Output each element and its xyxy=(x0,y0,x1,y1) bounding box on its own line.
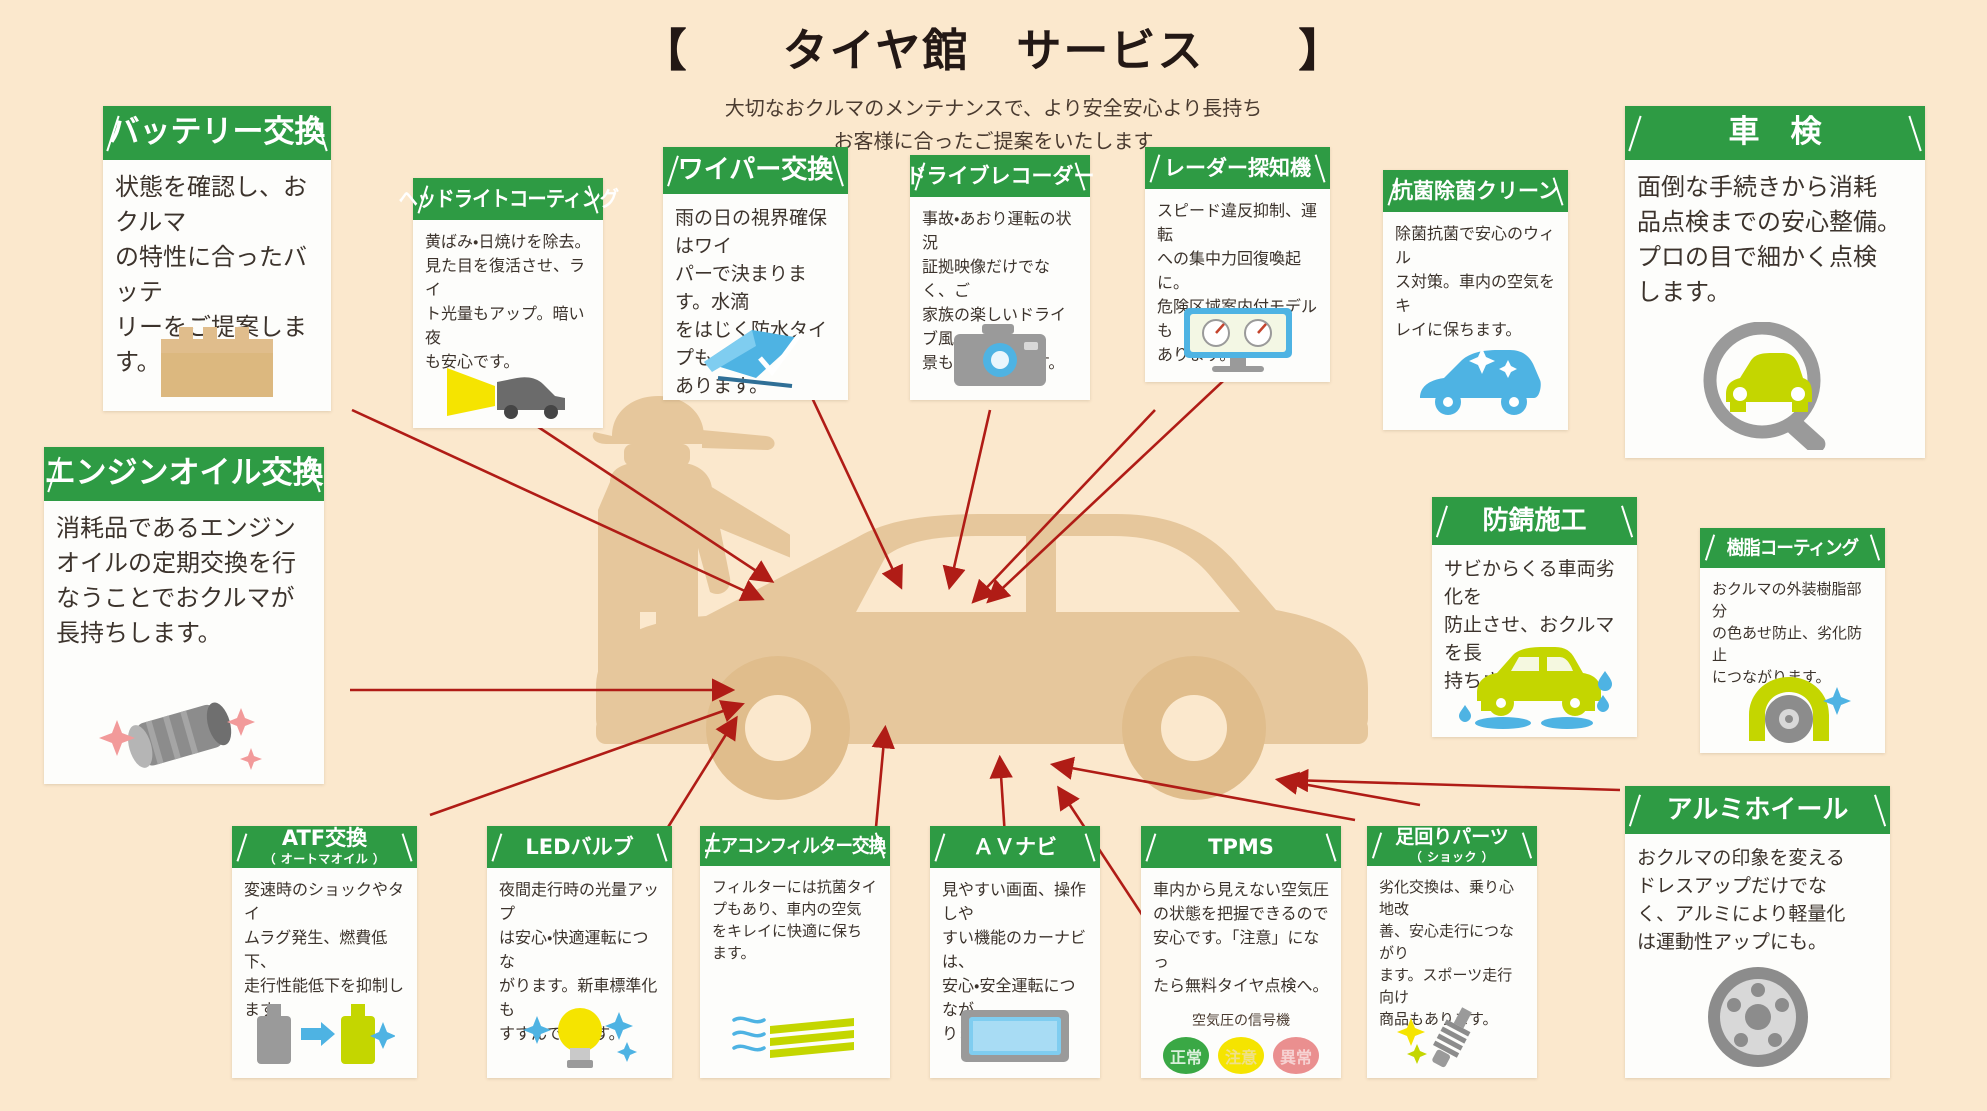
card-wiper[interactable]: ワイパー交換 雨の日の視界確保はワイ パーで決まります。水滴 をはじく防水タイプ… xyxy=(663,147,848,400)
card-atf-subtitle: （ オートマオイル ） xyxy=(264,850,386,867)
card-antibacterial-body: 除菌抗菌で安心のウィル ス対策。車内の空気をキ レイに保ちます。 xyxy=(1383,212,1568,342)
card-shaken-header: 車 検 xyxy=(1625,106,1925,160)
card-shaken-body: 面倒な手続きから消耗 品点検までの安心整備。 プロの目で細かく点検 します。 xyxy=(1625,160,1925,310)
card-suspension-title: 足回りパーツ xyxy=(1395,827,1509,848)
card-engineoil-title: エンジンオイル交換 xyxy=(45,457,324,490)
card-ledbulb[interactable]: LEDバルブ 夜間走行時の光量アップ は安心・快適運転につな がります。新車標準… xyxy=(487,826,672,1078)
shock-absorber-icon xyxy=(1367,1030,1537,1078)
card-airconfilter-header: エアコンフィルター交換 xyxy=(700,826,890,866)
card-antibacterial-title: 抗菌除菌クリーン xyxy=(1392,180,1559,203)
battery-icon xyxy=(103,380,331,411)
led-bulb-icon xyxy=(487,1046,672,1078)
car-water-icon xyxy=(1432,695,1637,737)
card-tpms-header: TPMS xyxy=(1141,826,1341,868)
card-suspension[interactable]: 足回りパーツ （ ショック ） 劣化交換は、乗り心地改 善、安心走行につながり … xyxy=(1367,826,1537,1078)
navi-screen-icon xyxy=(930,1046,1100,1078)
wheel-arch-icon xyxy=(1700,688,1885,753)
card-driverecorder-header: ドライブレコーダー xyxy=(910,155,1090,197)
tpms-signal-legend: 空気圧の信号機 正常 注意 異常 xyxy=(1141,1010,1341,1074)
card-avnavi[interactable]: ＡＶナビ 見やすい画面、操作しや すい機能のカーナビは、 安心・安全運転につなが… xyxy=(930,826,1100,1078)
card-tpms-title: TPMS xyxy=(1208,836,1274,859)
card-avnavi-header: ＡＶナビ xyxy=(930,826,1100,868)
card-atf[interactable]: ATF交換 （ オートマオイル ） 変速時のショックやタイ ムラグ発生、燃費低下… xyxy=(232,826,417,1078)
dashcam-camera-icon xyxy=(910,375,1090,400)
filter-airflow-icon xyxy=(700,964,890,1078)
card-ledbulb-title: LEDバルブ xyxy=(525,836,633,859)
card-headlight[interactable]: ヘッドライトコーティング 黄ばみ・日焼けを除去。 見た目を復活させ、ライ ト光量… xyxy=(413,178,603,428)
sparkling-car-icon xyxy=(1383,342,1568,430)
card-wheels-header: アルミホイール xyxy=(1625,786,1890,834)
card-radar-header: レーダー探知機 xyxy=(1145,147,1330,189)
card-resincoat-body: おクルマの外装樹脂部分 の色あせ防止、劣化防止 につながります。 xyxy=(1700,568,1885,688)
card-suspension-header: 足回りパーツ （ ショック ） xyxy=(1367,826,1537,866)
tpms-signal-normal: 正常 xyxy=(1163,1037,1209,1074)
card-engineoil[interactable]: エンジンオイル交換 消耗品であるエンジン オイルの定期交換を行 なうことでおクル… xyxy=(44,447,324,784)
card-antibacterial[interactable]: 抗菌除菌クリーン 除菌抗菌で安心のウィル ス対策。車内の空気をキ レイに保ちます… xyxy=(1383,170,1568,430)
infographic-canvas: 【 タイヤ館 サービス 】 大切なおクルマのメンテナンスで、より安全安心より長持… xyxy=(0,0,1987,1111)
card-resincoat-title: 樹脂コーティング xyxy=(1727,538,1858,559)
card-atf-body: 変速時のショックやタイ ムラグ発生、燃費低下、 走行性能低下を抑制し ます。 xyxy=(232,868,417,1022)
card-airconfilter-body: フィルターには抗菌タイ プもあり、車内の空気 をキレイに快適に保ち ます。 xyxy=(700,866,890,964)
card-radar[interactable]: レーダー探知機 スピード違反抑制、運転 への集中力回復喚起に。 危険区域案内付モ… xyxy=(1145,147,1330,382)
magnifier-car-icon xyxy=(1625,310,1925,458)
card-rustproof-header: 防錆施工 xyxy=(1432,497,1637,545)
card-atf-title: ATF交換 xyxy=(282,827,367,850)
radar-monitor-icon xyxy=(1145,367,1330,382)
card-battery-title: バッテリー交換 xyxy=(109,116,326,149)
tpms-signal-caution: 注意 xyxy=(1218,1037,1264,1074)
card-wheels-title: アルミホイール xyxy=(1667,796,1849,824)
tpms-signal-abnormal: 異常 xyxy=(1273,1037,1319,1074)
card-avnavi-title: ＡＶナビ xyxy=(973,836,1057,859)
card-tpms[interactable]: TPMS 車内から見えない空気圧 の状態を把握できるので 安心です。「注意」にな… xyxy=(1141,826,1341,1078)
card-airconfilter-title: エアコンフィルター交換 xyxy=(704,836,885,857)
card-battery-header: バッテリー交換 xyxy=(103,106,331,160)
card-engineoil-header: エンジンオイル交換 xyxy=(44,447,324,501)
card-rustproof[interactable]: 防錆施工 サビからくる車両劣化を 防止させ、おクルマを長 持ちさせます。 xyxy=(1432,497,1637,737)
card-wiper-header: ワイパー交換 xyxy=(663,147,848,194)
card-radar-title: レーダー探知機 xyxy=(1164,157,1311,180)
card-resincoat[interactable]: 樹脂コーティング おクルマの外装樹脂部分 の色あせ防止、劣化防止 につながります… xyxy=(1700,528,1885,753)
tpms-signal-dots: 正常 注意 異常 xyxy=(1141,1037,1341,1074)
card-headlight-header: ヘッドライトコーティング xyxy=(413,178,603,220)
oil-filter-icon xyxy=(44,651,324,784)
card-headlight-body: 黄ばみ・日焼けを除去。 見た目を復活させ、ライ ト光量もアップ。暗い夜 も安心で… xyxy=(413,220,603,374)
card-engineoil-body: 消耗品であるエンジン オイルの定期交換を行 なうことでおクルマが 長持ちします。 xyxy=(44,501,324,651)
card-driverecorder[interactable]: ドライブレコーダー 事故・あおり運転の状況 証拠映像だけでなく、ご 家族の楽しい… xyxy=(910,155,1090,400)
card-wiper-title: ワイパー交換 xyxy=(678,156,833,184)
card-suspension-subtitle: （ ショック ） xyxy=(1410,848,1494,865)
card-driverecorder-title: ドライブレコーダー xyxy=(906,165,1095,188)
oil-bottle-swap-icon xyxy=(232,1022,417,1078)
card-ledbulb-header: LEDバルブ xyxy=(487,826,672,868)
card-headlight-title: ヘッドライトコーティング xyxy=(398,188,618,211)
card-tpms-body: 車内から見えない空気圧 の状態を把握できるので 安心です。「注意」になっ たら無… xyxy=(1141,868,1341,998)
card-resincoat-header: 樹脂コーティング xyxy=(1700,528,1885,568)
card-antibacterial-header: 抗菌除菌クリーン xyxy=(1383,170,1568,212)
card-wheels-body: おクルマの印象を変える ドレスアップだけでな く、アルミにより軽量化 は運動性ア… xyxy=(1625,834,1890,956)
card-battery[interactable]: バッテリー交換 状態を確認し、おクルマ の特性に合ったバッテ リーをご提案します… xyxy=(103,106,331,411)
card-atf-header: ATF交換 （ オートマオイル ） xyxy=(232,826,417,868)
card-airconfilter[interactable]: エアコンフィルター交換 フィルターには抗菌タイ プもあり、車内の空気 をキレイに… xyxy=(700,826,890,1078)
headlight-beam-icon xyxy=(413,374,603,428)
card-shaken-title: 車 検 xyxy=(1729,116,1822,149)
card-rustproof-title: 防錆施工 xyxy=(1482,507,1586,535)
card-shaken[interactable]: 車 検 面倒な手続きから消耗 品点検までの安心整備。 プロの目で細かく点検 しま… xyxy=(1625,106,1925,458)
card-wheels[interactable]: アルミホイール おクルマの印象を変える ドレスアップだけでな く、アルミにより軽… xyxy=(1625,786,1890,1078)
tpms-signal-label: 空気圧の信号機 xyxy=(1141,1010,1341,1030)
alloy-wheel-icon xyxy=(1625,956,1890,1078)
